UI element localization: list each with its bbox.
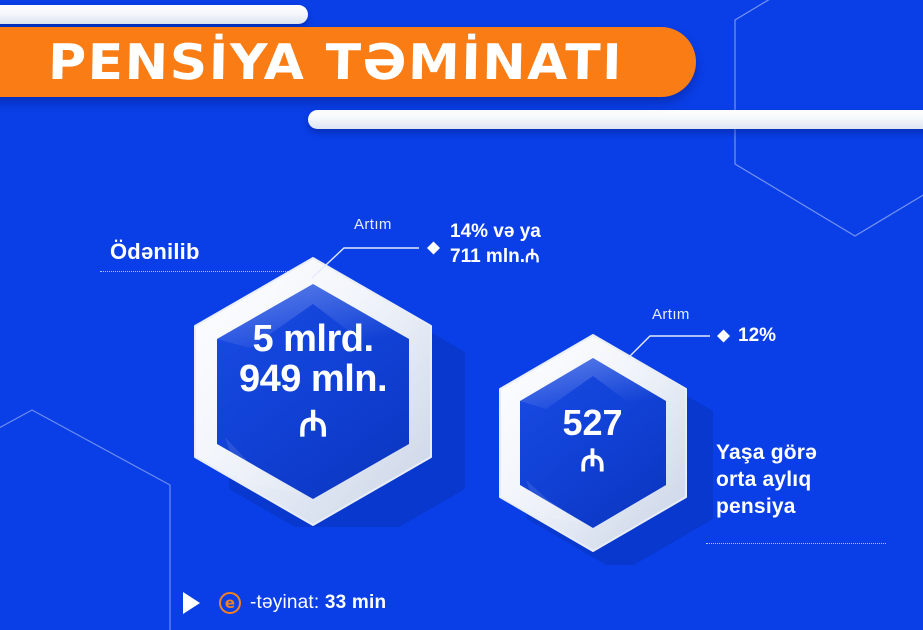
e-teyinat-logo-icon: e xyxy=(219,592,241,614)
title-banner: PENSİYA TƏMİNATI xyxy=(0,27,696,97)
metric-2-caption-line1: Yaşa görə xyxy=(716,440,886,467)
metric-1-callout-value: 14% və ya 711 mln.₼ xyxy=(450,220,541,269)
play-triangle-icon xyxy=(183,592,200,614)
footer-value: 33 min xyxy=(325,592,386,613)
metric-1-hexagon: 5 mlrd. 949 mln. ₼ xyxy=(180,252,470,527)
metric-2-caption-line3: pensiya xyxy=(716,494,886,521)
infographic-canvas: PENSİYA TƏMİNATI Ödənilib xyxy=(0,0,923,630)
footer: e -təyinat: 33 min xyxy=(183,592,386,614)
callout-leader-line-2-icon xyxy=(620,306,820,366)
metric-2-caption: Yaşa görə orta aylıq pensiya xyxy=(716,440,886,521)
metric-1-callout: Artım 14% və ya 711 mln.₼ xyxy=(302,216,552,291)
metric-1-callout-value-line2: 711 mln. xyxy=(450,246,525,267)
middle-decorative-bar xyxy=(308,110,923,129)
hexagon-outline-decoration-2-icon xyxy=(0,404,182,630)
page-title: PENSİYA TƏMİNATI xyxy=(48,38,624,87)
metric-2-caption-rule xyxy=(706,543,886,544)
metric-1-callout-value-line1: 14% və ya xyxy=(450,220,541,245)
metric-1-callout-label: Artım xyxy=(354,216,392,233)
hexagon-badge-1-icon xyxy=(180,252,470,527)
manat-currency-small-icon: ₼ xyxy=(525,246,540,266)
metric-2-callout: Artım 12% xyxy=(620,306,820,371)
footer-label: -təyinat: xyxy=(250,592,325,613)
footer-text: -təyinat: 33 min xyxy=(250,592,386,614)
metric-2-callout-value: 12% xyxy=(738,324,776,349)
top-decorative-bar xyxy=(0,5,308,24)
metric-2-callout-label: Artım xyxy=(652,306,690,323)
metric-2-caption-line2: orta aylıq xyxy=(716,467,886,494)
